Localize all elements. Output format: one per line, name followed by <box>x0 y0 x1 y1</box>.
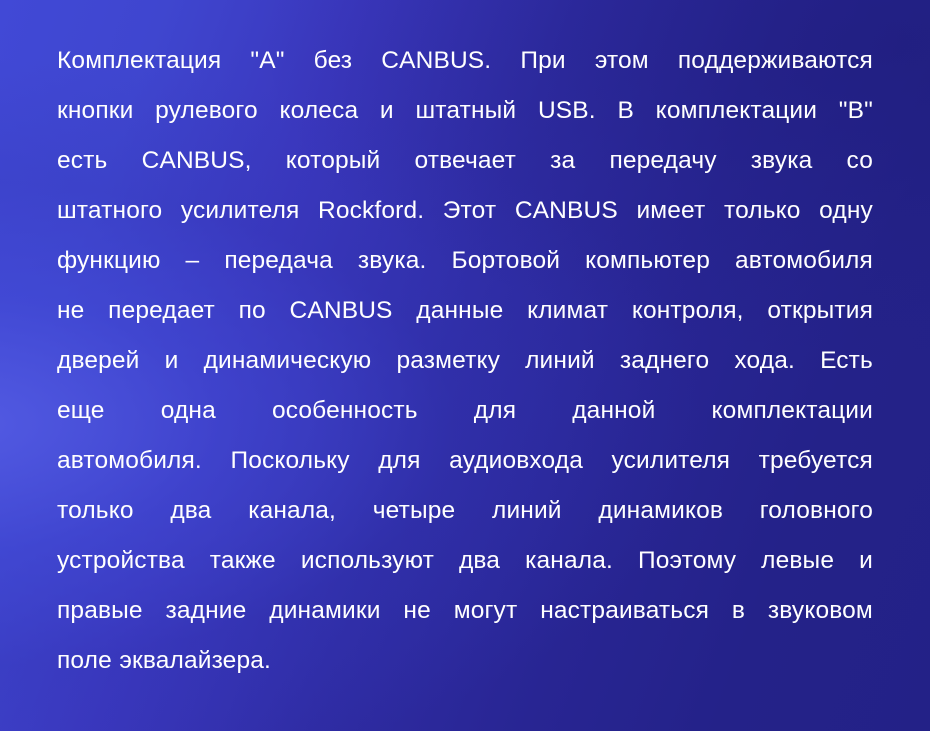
word: звука <box>751 136 813 186</box>
word: настраиваться <box>540 586 709 636</box>
word: штатного <box>57 186 162 236</box>
slide-canvas: Комплектация"A"безCANBUS.Приэтомподдержи… <box>0 0 930 731</box>
word: линий <box>492 486 562 536</box>
word: не <box>57 286 84 336</box>
word: комплектации <box>656 86 817 136</box>
word: два <box>170 486 211 536</box>
word: без <box>314 36 353 86</box>
paragraph-line: правыезадниединамикинемогутнастраиваться… <box>57 586 873 636</box>
word: автомобиля. <box>57 436 202 486</box>
word: одна <box>161 386 216 436</box>
word: открытия <box>767 286 873 336</box>
word: динамиков <box>598 486 723 536</box>
word: для <box>474 386 516 436</box>
word: При <box>520 36 565 86</box>
word: требуется <box>759 436 873 486</box>
paragraph-line: функцию–передачазвука.Бортовойкомпьютера… <box>57 236 873 286</box>
word: звуковом <box>768 586 873 636</box>
word: правые <box>57 586 143 636</box>
word: и <box>380 86 394 136</box>
word: поддерживаются <box>678 36 873 86</box>
word: усилителя <box>181 186 300 236</box>
word: хода. <box>734 336 795 386</box>
word: особенность <box>272 386 418 436</box>
word: штатный <box>415 86 516 136</box>
word: CANBUS <box>290 286 393 336</box>
word: кнопки <box>57 86 133 136</box>
paragraph-line: дверейидинамическуюразметкулинийзаднегох… <box>57 336 873 386</box>
word: CANBUS <box>515 186 618 236</box>
word: только <box>57 486 134 536</box>
word: головного <box>760 486 873 536</box>
paragraph-line: поле эквалайзера. <box>57 636 873 686</box>
word: в <box>732 586 745 636</box>
paragraph-line: автомобиля.Посколькудляаудиовходаусилите… <box>57 436 873 486</box>
word: со <box>847 136 873 186</box>
word: передачу <box>609 136 716 186</box>
word: канала. <box>525 536 613 586</box>
word: передача <box>224 236 333 286</box>
word: динамики <box>269 586 380 636</box>
word: усилителя <box>612 436 731 486</box>
word: канала, <box>248 486 336 536</box>
word: комплектации <box>712 386 873 436</box>
word: устройства <box>57 536 185 586</box>
word: USB. <box>538 86 596 136</box>
paragraph-line: штатногоусилителяRockford.ЭтотCANBUSимее… <box>57 186 873 236</box>
word: два <box>459 536 500 586</box>
body-paragraph: Комплектация"A"безCANBUS.Приэтомподдержи… <box>57 36 873 686</box>
paragraph-line: естьCANBUS,которыйотвечаетзапередачузвук… <box>57 136 873 186</box>
word: имеет <box>636 186 705 236</box>
word: только <box>724 186 801 236</box>
word: Комплектация <box>57 36 221 86</box>
word: задние <box>166 586 247 636</box>
word: также <box>210 536 276 586</box>
word: аудиовхода <box>449 436 583 486</box>
word: заднего <box>620 336 709 386</box>
word: данной <box>572 386 655 436</box>
word: за <box>550 136 575 186</box>
word: еще <box>57 386 105 436</box>
word: – <box>186 236 200 286</box>
word: передает <box>108 286 215 336</box>
word: могут <box>454 586 518 636</box>
word: климат <box>527 286 608 336</box>
paragraph-line: устройстватакжеиспользуютдваканала.Поэто… <box>57 536 873 586</box>
word: для <box>378 436 420 486</box>
paragraph-line: ещеоднаособенностьдляданнойкомплектации <box>57 386 873 436</box>
word: функцию <box>57 236 161 286</box>
word: рулевого <box>155 86 258 136</box>
paragraph-line: кнопкирулевогоколесаиштатныйUSB.Вкомплек… <box>57 86 873 136</box>
word: левые <box>761 536 834 586</box>
word: колеса <box>279 86 358 136</box>
word: одну <box>819 186 873 236</box>
word: четыре <box>373 486 456 536</box>
word: компьютер <box>585 236 710 286</box>
word: по <box>239 286 266 336</box>
word: CANBUS, <box>142 136 252 186</box>
word: этом <box>595 36 649 86</box>
word: данные <box>416 286 503 336</box>
word: Rockford. <box>318 186 424 236</box>
word: контроля, <box>632 286 744 336</box>
word: динамическую <box>204 336 372 386</box>
paragraph-line: Комплектация"A"безCANBUS.Приэтомподдержи… <box>57 36 873 86</box>
word: и <box>859 536 873 586</box>
word: "B" <box>839 86 873 136</box>
word: Есть <box>820 336 873 386</box>
word: Бортовой <box>451 236 560 286</box>
word: отвечает <box>414 136 516 186</box>
word: который <box>286 136 381 186</box>
word: дверей <box>57 336 140 386</box>
word: автомобиля <box>735 236 873 286</box>
word: используют <box>301 536 434 586</box>
paragraph-line: непередаетпоCANBUSданныеклиматконтроля,о… <box>57 286 873 336</box>
word: В <box>617 86 634 136</box>
word: Поэтому <box>638 536 736 586</box>
word: звука. <box>358 236 427 286</box>
word: не <box>403 586 430 636</box>
word: "A" <box>250 36 284 86</box>
word: Этот <box>443 186 496 236</box>
word: Поскольку <box>230 436 349 486</box>
word: есть <box>57 136 107 186</box>
word: CANBUS. <box>381 36 491 86</box>
word: линий <box>525 336 595 386</box>
word: и <box>165 336 179 386</box>
word: разметку <box>396 336 500 386</box>
paragraph-line: толькодваканала,четырелинийдинамиковголо… <box>57 486 873 536</box>
